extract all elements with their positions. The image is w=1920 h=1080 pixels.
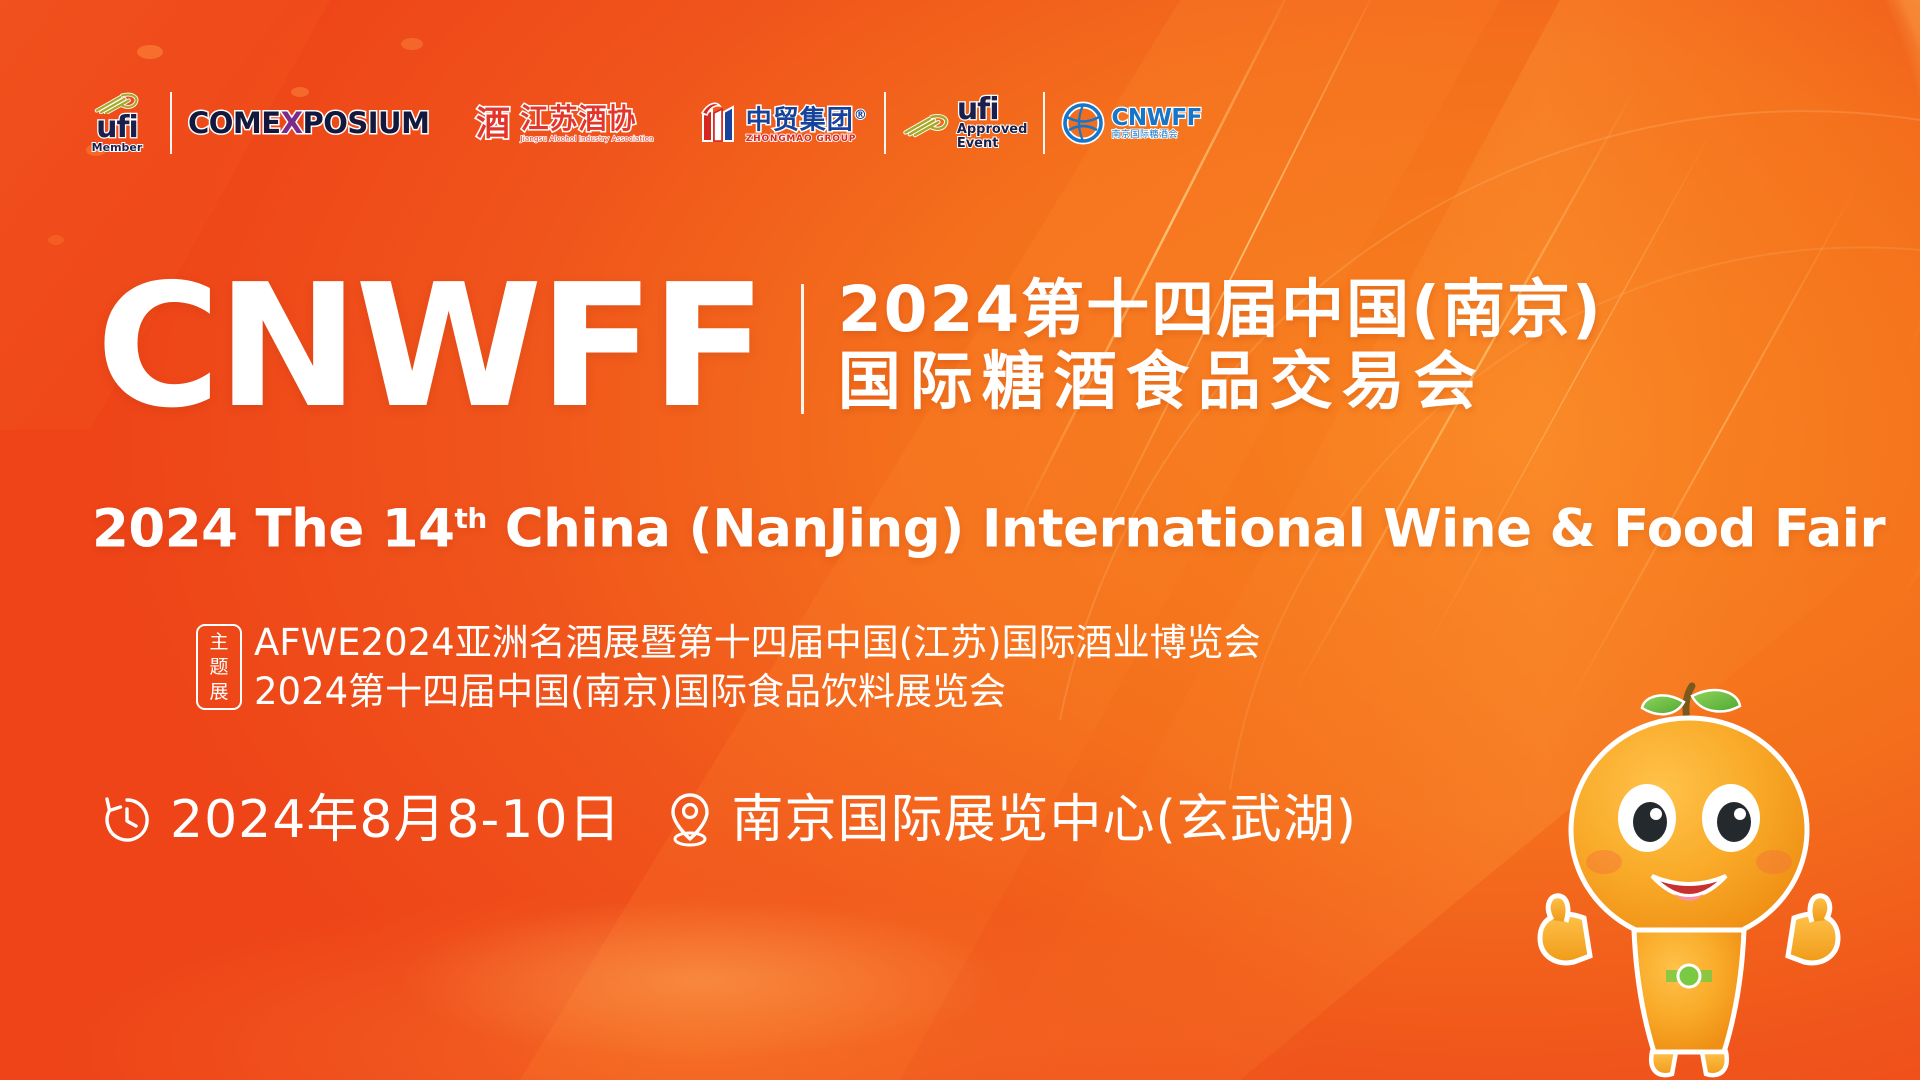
theme-line-1: AFWE2024亚洲名酒展暨第十四届中国(江苏)国际酒业博览会 (254, 620, 1261, 665)
sponsor-logo-row: ufi Member COMEXPOSIUM 酒 江苏酒协 Jiangsu Al… (80, 82, 1202, 164)
chinese-title: 2024第十四届中国(南京) 国际糖酒食品交易会 (838, 272, 1603, 416)
mascot-leaf-left (1642, 695, 1684, 714)
mascot-cheek-right (1756, 850, 1792, 874)
event-banner: ufi Member COMEXPOSIUM 酒 江苏酒协 Jiangsu Al… (0, 0, 1920, 1080)
mascot-pupil-right (1717, 802, 1751, 842)
svg-text:酒: 酒 (476, 104, 510, 144)
jiangsu-english-name: Jiangsu Alcohol Industry Association (520, 135, 653, 143)
cnwff-logotype: CNWFF (96, 272, 763, 422)
zhongmao-emblem-icon (700, 101, 740, 145)
mascot-leg-left (1651, 1052, 1676, 1075)
event-date-item: 2024年8月8-10日 (100, 790, 621, 850)
chinese-title-line1: 2024第十四届中国(南京) (838, 276, 1603, 344)
theme-exhibitions-block: 主 题 展 AFWE2024亚洲名酒展暨第十四届中国(江苏)国际酒业博览会 20… (196, 620, 1261, 714)
zhongmao-english-name: ZHONGMAO GROUP (746, 134, 868, 144)
title-divider (801, 284, 804, 414)
ufi-wing-icon (90, 92, 144, 114)
logo-comexposium[interactable]: COMEXPOSIUM (188, 82, 429, 164)
orange-mascot (1524, 680, 1854, 1080)
registered-mark-icon: ® (854, 108, 868, 123)
english-subtitle: 2024 The 14th China (NanJing) Internatio… (92, 490, 1885, 559)
location-pin-icon (665, 791, 715, 849)
comexposium-x: X (281, 106, 303, 140)
theme-badge-char-2: 题 (209, 655, 228, 680)
theme-badge-char-3: 展 (209, 680, 228, 705)
logo-zhongmao-group[interactable]: 中贸集团® ZHONGMAO GROUP (700, 82, 868, 164)
mascot-torso (1634, 930, 1744, 1052)
cnwff-mark-word: CNWFF (1111, 106, 1201, 130)
jiangsu-chinese-name: 江苏酒协 (520, 104, 653, 134)
mascot-stem (1686, 686, 1692, 720)
logo-divider-3 (1043, 92, 1045, 154)
logo-divider-2 (884, 92, 886, 154)
mascot-eye-glint-left (1650, 808, 1662, 820)
mascot-pupil-left (1633, 802, 1667, 842)
event-venue-text: 南京国际展览中心(玄武湖) (731, 790, 1357, 850)
ufi-approved-line2: Event (957, 137, 1028, 151)
mascot-head (1571, 718, 1807, 942)
logo-jiangsu-association[interactable]: 酒 江苏酒协 Jiangsu Alcohol Industry Associat… (471, 82, 653, 164)
theme-badge-char-1: 主 (209, 630, 228, 655)
ufi-approved-wordmark: ufi (957, 96, 1028, 123)
mascot-eye-glint-right (1734, 808, 1746, 820)
event-date-text: 2024年8月8-10日 (170, 790, 621, 850)
english-subtitle-pre: 2024 The 14 (92, 499, 455, 560)
logo-ufi-approved-event[interactable]: ufi Approved Event (902, 82, 1028, 164)
theme-line-2: 2024第十四届中国(南京)国际食品饮料展览会 (254, 669, 1261, 714)
jiangsu-seal-icon: 酒 (471, 99, 515, 147)
mascot-leaf-right (1692, 690, 1740, 711)
clock-icon (100, 793, 154, 847)
mascot-belt-buckle (1678, 965, 1700, 987)
mascot-thumb-right (1810, 896, 1830, 922)
logo-cnwff-mark[interactable]: CNWFF 南京国际糖酒会 (1061, 82, 1201, 164)
ufi-wordmark: ufi (96, 115, 138, 141)
comexposium-part-a: COME (188, 106, 281, 140)
english-subtitle-post: China (NanJing) International Wine & Foo… (487, 499, 1885, 560)
logo-divider-1 (170, 92, 172, 154)
chinese-title-line2: 国际糖酒食品交易会 (838, 348, 1603, 416)
mascot-thumb-left (1548, 896, 1568, 922)
english-subtitle-ordinal: th (455, 502, 487, 535)
cnwff-globe-icon (1061, 101, 1105, 145)
logo-ufi-member[interactable]: ufi Member (80, 82, 154, 164)
event-info-row: 2024年8月8-10日 南京国际展览中心(玄武湖) (100, 790, 1357, 850)
theme-lines: AFWE2024亚洲名酒展暨第十四届中国(江苏)国际酒业博览会 2024第十四届… (254, 620, 1261, 714)
mascot-leg-right (1702, 1052, 1727, 1075)
ufi-member-label: Member (92, 142, 143, 154)
ufi-approved-wing-icon (902, 103, 954, 143)
event-venue-item: 南京国际展览中心(玄武湖) (665, 790, 1357, 850)
cnwff-mark-subtitle: 南京国际糖酒会 (1111, 130, 1201, 141)
mascot-cheek-left (1586, 850, 1622, 874)
comexposium-part-b: POSIUM (302, 106, 429, 140)
zhongmao-chinese-name: 中贸集团® (746, 102, 868, 135)
ufi-approved-line1: Approved (957, 123, 1028, 137)
theme-badge: 主 题 展 (196, 624, 242, 710)
title-block: CNWFF 2024第十四届中国(南京) 国际糖酒食品交易会 (96, 272, 1603, 422)
